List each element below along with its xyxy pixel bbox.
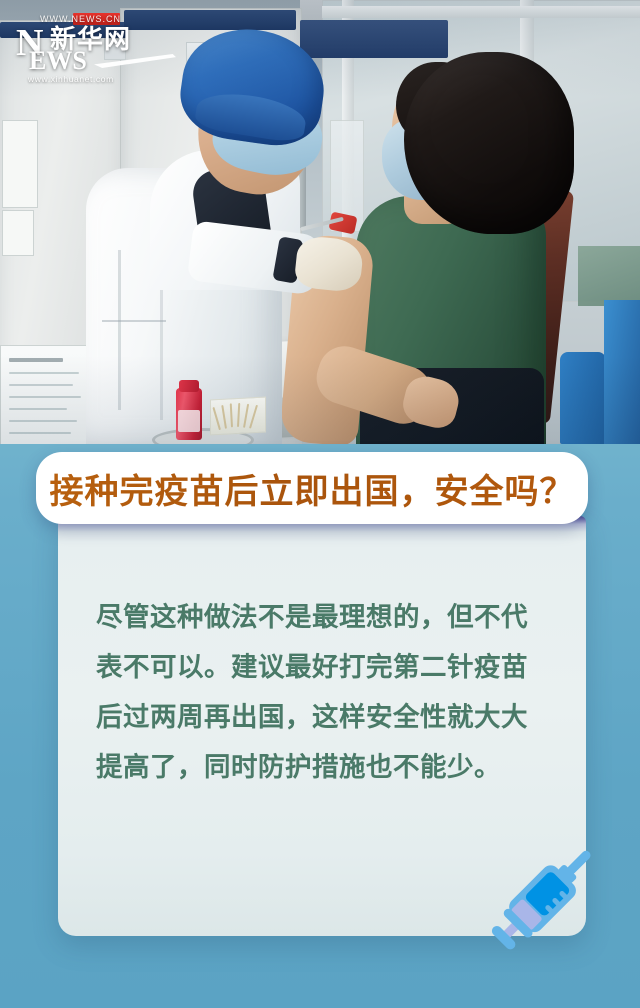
coat-fold	[160, 280, 163, 420]
sheet-line	[9, 408, 67, 410]
posted-form-sheet	[0, 345, 97, 444]
watermark-url-bottom: www.xinhuanet.com	[28, 74, 114, 84]
watermark-logo-ews: EWS	[29, 48, 87, 74]
blue-medical-equipment	[604, 300, 640, 444]
vaccination-photo: WWW.NEWS.CN N 新华网 EWS www.xinhuanet.com	[0, 0, 640, 444]
coat-fold	[118, 250, 121, 410]
iodine-bottle-label	[178, 410, 200, 432]
xinhua-news-watermark: WWW.NEWS.CN N 新华网 EWS www.xinhuanet.com	[16, 14, 184, 84]
sheet-line	[9, 420, 77, 422]
answer-line: 尽管这种做法不是最理想的，但不代	[96, 592, 542, 642]
blue-medical-equipment	[560, 352, 606, 444]
cotton-swab-pack	[210, 397, 266, 436]
cotton-swab	[249, 405, 258, 429]
sheet-line	[9, 384, 73, 386]
sheet-line	[9, 372, 79, 374]
background-equipment	[578, 246, 640, 306]
page-title: 接种完疫苗后立即出国，安全吗？	[50, 464, 575, 513]
iodine-bottle-cap	[179, 380, 199, 392]
answer-body-text: 尽管这种做法不是最理想的，但不代 表不可以。建议最好打完第二针疫苗 后过两周再出…	[96, 592, 542, 792]
cotton-swab	[243, 404, 249, 428]
sheet-line	[9, 396, 81, 398]
refrigerator-top-band	[300, 20, 448, 58]
answer-line: 提高了，同时防护措施也不能少。	[96, 742, 542, 792]
cotton-swab	[221, 405, 227, 429]
watermark-url-top: WWW.NEWS.CN	[40, 14, 121, 24]
fridge-label-sticker	[2, 120, 38, 208]
fridge-label-sticker	[2, 210, 34, 256]
question-title-pill: 接种完疫苗后立即出国，安全吗？	[36, 452, 588, 524]
sheet-line	[9, 432, 71, 434]
patient-hair	[404, 52, 574, 234]
sheet-heading-line	[9, 358, 63, 362]
cotton-swab	[237, 403, 240, 427]
answer-line: 表不可以。建议最好打完第二针疫苗	[96, 642, 542, 692]
poster-root: WWW.NEWS.CN N 新华网 EWS www.xinhuanet.com …	[0, 0, 640, 1008]
watermark-swoosh-icon	[94, 54, 176, 68]
syringe-icon	[480, 832, 610, 962]
cotton-swab	[230, 403, 233, 427]
answer-line: 后过两周再出国，这样安全性就大大	[96, 692, 542, 742]
cotton-swab	[212, 407, 221, 430]
coat-pocket	[102, 320, 166, 322]
window-mullion	[322, 6, 640, 18]
